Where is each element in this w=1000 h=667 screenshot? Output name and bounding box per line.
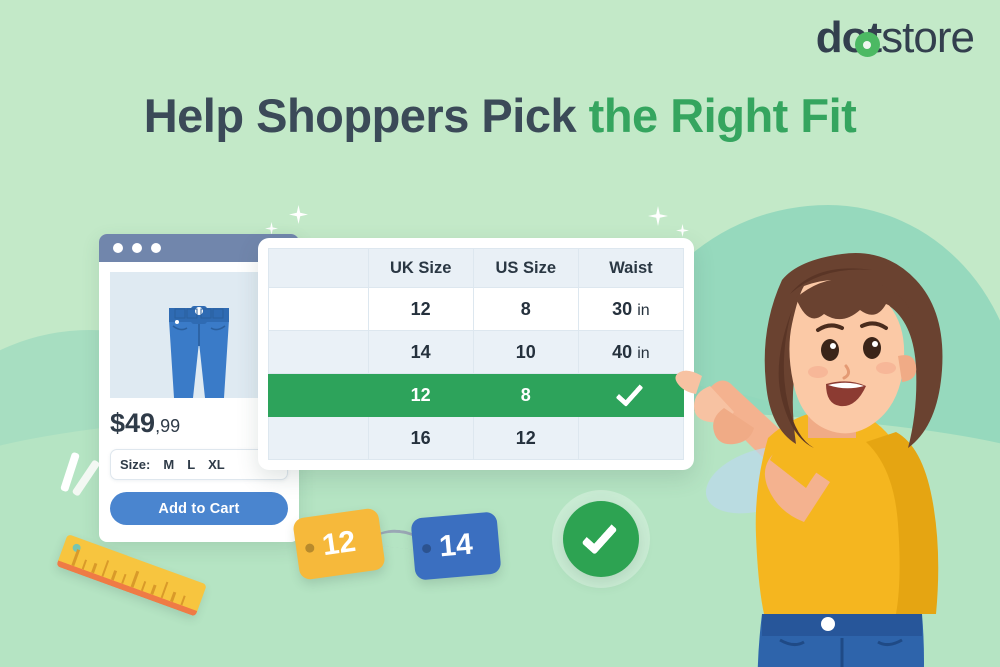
sparkle-icon	[289, 205, 308, 224]
size-tag-14: 14	[410, 511, 501, 580]
cell-blank	[269, 288, 369, 331]
tag-label: 14	[438, 528, 474, 565]
size-option-xl[interactable]: XL	[208, 457, 225, 472]
cell-blank	[269, 374, 369, 417]
tag-hole-icon	[305, 543, 315, 553]
table-row-selected[interactable]: 12 8	[269, 374, 684, 417]
window-dot-icon	[113, 243, 123, 253]
logo-store-text: store	[881, 16, 974, 60]
size-tag-12: 12	[292, 507, 386, 580]
cell-us-size: 8	[473, 288, 578, 331]
success-check-badge	[563, 501, 639, 577]
tag-hole-icon	[422, 544, 432, 554]
table-body: 12 8 30 in 14 10 40 in 12 8	[269, 288, 684, 460]
logo-dot-text: dot	[816, 16, 881, 60]
table-row[interactable]: 16 12	[269, 417, 684, 460]
add-to-cart-button[interactable]: Add to Cart	[110, 492, 288, 525]
logo-green-dot-icon	[855, 32, 880, 57]
size-option-l[interactable]: L	[187, 457, 195, 472]
price-cents: ,99	[155, 416, 180, 436]
illustration-woman-pointing	[640, 180, 1000, 667]
table-header-cell-uk: UK Size	[368, 249, 473, 288]
cell-us-size: 10	[473, 331, 578, 374]
cell-us-size: 8	[473, 374, 578, 417]
cell-uk-size: 16	[368, 417, 473, 460]
cell-blank	[269, 331, 369, 374]
window-dot-icon	[151, 243, 161, 253]
table-header: UK Size US Size Waist	[269, 249, 684, 288]
table-header-cell-blank	[269, 249, 369, 288]
size-chart-table: UK Size US Size Waist 12 8 30 in 14 10 4…	[268, 248, 684, 460]
page-title-dark: Help Shoppers Pick	[144, 89, 576, 142]
cell-uk-size: 12	[368, 288, 473, 331]
cell-uk-size: 12	[368, 374, 473, 417]
cell-uk-size: 14	[368, 331, 473, 374]
price-main: $49	[110, 408, 155, 438]
page-title: Help Shoppers Pick the Right Fit	[0, 88, 1000, 143]
brand-logo[interactable]: dot store	[816, 16, 974, 60]
size-chart-card: UK Size US Size Waist 12 8 30 in 14 10 4…	[258, 238, 694, 470]
cell-blank	[269, 417, 369, 460]
check-circle-icon	[581, 518, 617, 555]
table-row[interactable]: 12 8 30 in	[269, 288, 684, 331]
table-row[interactable]: 14 10 40 in	[269, 331, 684, 374]
size-option-m[interactable]: M	[163, 457, 174, 472]
table-header-cell-us: US Size	[473, 249, 578, 288]
sewing-pins-icon	[66, 452, 102, 510]
tag-label: 12	[320, 525, 358, 563]
window-dot-icon	[132, 243, 142, 253]
jeans-icon	[151, 278, 247, 398]
poster-canvas: dot store Help Shoppers Pick the Right F…	[0, 0, 1000, 667]
size-label: Size:	[120, 457, 150, 472]
cell-us-size: 12	[473, 417, 578, 460]
page-title-green: the Right Fit	[589, 89, 857, 142]
